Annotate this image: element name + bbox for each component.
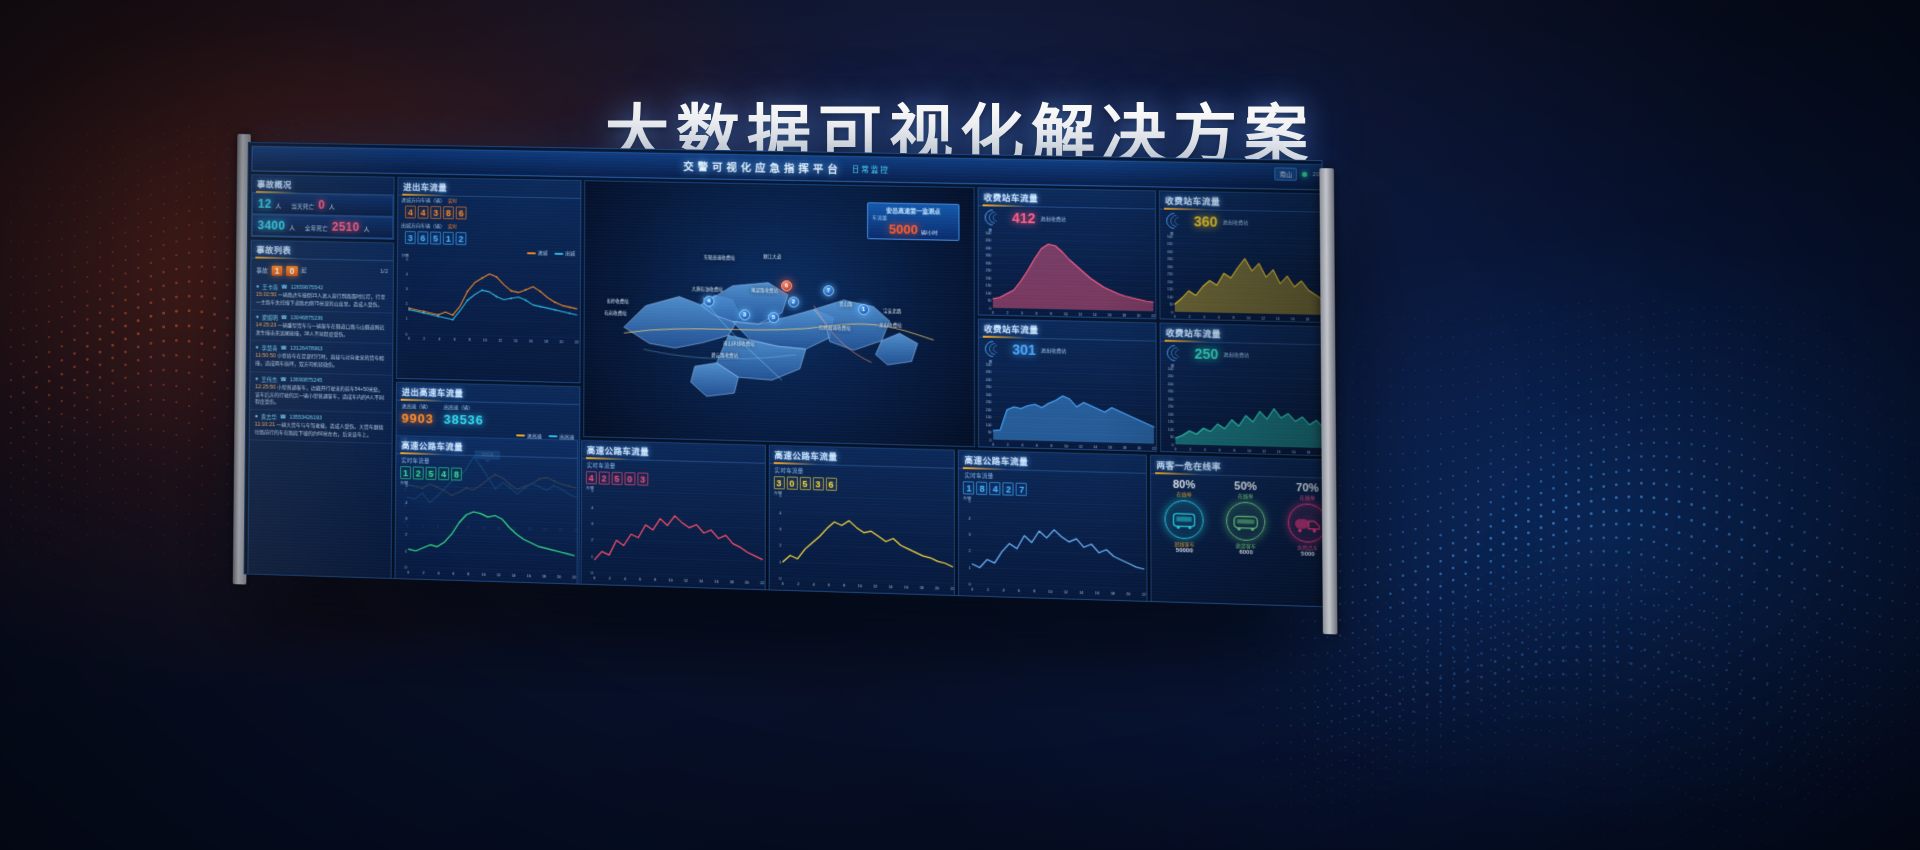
kpi-box: 12人当天死亡0人 (252, 193, 394, 217)
svg-text:2: 2 (987, 588, 989, 592)
panel-accident-overview: 事故概况 12人当天死亡0人3400人全年死亡2510人 (251, 174, 395, 239)
svg-text:4: 4 (1021, 311, 1023, 315)
panel-toll-flow: 收费站车流量412进出收费站50045040035030025020015010… (978, 187, 1157, 319)
svg-text:14: 14 (514, 339, 518, 343)
digit-cell: 6 (417, 231, 428, 244)
svg-text:12: 12 (873, 585, 877, 589)
kpi-label: 全年死亡 (305, 223, 328, 232)
online-rate-item[interactable]: 80%在线率班线客车50000 (1165, 478, 1204, 554)
online-rate-name: 危险品车 (1288, 544, 1326, 552)
svg-text:2: 2 (969, 549, 971, 553)
map-tooltip-title: 安邑高速第一监测点 (872, 205, 954, 216)
svg-text:500: 500 (1168, 367, 1174, 371)
meter-group: 出城方向车辆（辆）实时36512 (398, 221, 580, 250)
inout-flow-chart: 5432100246810121416182022万/辆 (397, 254, 580, 345)
meter-label: 进城方向车辆（辆） (401, 197, 445, 205)
svg-text:300: 300 (986, 261, 992, 265)
digit-cell: 0 (624, 472, 635, 485)
svg-text:18: 18 (1306, 318, 1310, 322)
online-rate-count: 6000 (1226, 549, 1265, 556)
kpi-label: 当天死亡 (291, 201, 314, 210)
incident-name: 王卡南 (262, 283, 278, 291)
particle-wave-bottom (1250, 520, 1890, 850)
svg-text:14: 14 (888, 585, 892, 589)
panel-accident-list: 事故列表 事故 1 0 起 1/2 ●王卡南☎1265967554215:02:… (247, 240, 394, 584)
svg-text:20: 20 (745, 581, 749, 585)
svg-text:150: 150 (986, 415, 992, 419)
svg-text:50: 50 (1170, 435, 1174, 439)
svg-text:0: 0 (992, 443, 994, 447)
svg-text:0: 0 (1175, 447, 1177, 451)
highway-flow-chart: 5432100246810121416182022万/辆 (395, 481, 576, 580)
signal-arcs-icon (985, 209, 1007, 225)
online-rate-item[interactable]: 70%在线率危险品车5000 (1288, 482, 1326, 559)
online-rate-count: 50000 (1165, 548, 1204, 555)
svg-text:14: 14 (1080, 591, 1084, 595)
map-label: 东陵高速收费站 (704, 255, 735, 262)
svg-text:350: 350 (986, 254, 992, 258)
map-pin[interactable]: 3 (739, 309, 750, 320)
map-pin[interactable]: 2 (788, 296, 799, 307)
panel-toll-flow: 收费站车流量360进出收费站50045040035030025020015010… (1159, 190, 1326, 323)
incident-text: 12:25:50 小型普通客车，边避开行驶来的前车54+50米处，该车后方的行驶… (255, 384, 387, 409)
phone-icon: ☎ (281, 315, 288, 321)
svg-text:万/辆: 万/辆 (586, 486, 594, 490)
svg-text:14: 14 (1093, 313, 1097, 317)
svg-text:5: 5 (779, 494, 781, 498)
map-label: 顺江大道 (763, 254, 781, 260)
digit-cell: 8 (443, 206, 454, 219)
count-digit: 1 (272, 266, 283, 276)
svg-text:2: 2 (423, 337, 425, 341)
svg-text:400: 400 (986, 378, 992, 382)
incident-phone: 13553426193 (289, 415, 322, 422)
accident-count-digits: 1 0 (272, 261, 298, 279)
panel-highway-flow: 高速公路车流量实时车流量1254854321002468101214161820… (394, 435, 578, 589)
svg-text:4: 4 (438, 337, 440, 341)
accident-list-items[interactable]: ●王卡南☎1265967554215:02:50 一辆路虎车撞倒15人进入直行到… (248, 280, 393, 583)
svg-text:8: 8 (1233, 316, 1235, 320)
svg-text:22: 22 (760, 581, 764, 585)
incident-text: 14:25:23 一辆重型货车与一辆客车在隧道口路与山隧道附近发生撞击无追尾碰撞… (256, 323, 388, 341)
svg-text:6: 6 (639, 578, 641, 582)
toll-label: 进出收费站 (1223, 218, 1249, 226)
map-tooltip: 安邑高速第一监测点 车流量 5000 辆/小时 (867, 202, 959, 241)
person-icon: ● (255, 376, 258, 382)
svg-text:18: 18 (542, 575, 546, 579)
svg-text:12: 12 (498, 339, 502, 343)
incident-time: 11:50:50 (255, 353, 275, 359)
panel-map[interactable]: 东陵高速收费站顺江大道大唐石油收费站笔架路收费站长岭收费站石岩收费站青山路宝安北… (583, 180, 975, 447)
legend-item: 出城 (554, 250, 575, 257)
svg-text:2: 2 (797, 582, 799, 586)
svg-text:100: 100 (986, 291, 992, 295)
digit-cell: 3 (430, 206, 441, 219)
svg-text:350: 350 (1168, 389, 1174, 393)
svg-text:450: 450 (986, 239, 992, 243)
svg-text:150: 150 (986, 284, 992, 288)
svg-text:100: 100 (1167, 295, 1173, 299)
digit-cell: 6 (456, 206, 467, 219)
svg-text:4: 4 (1003, 588, 1005, 592)
svg-text:300: 300 (986, 393, 992, 397)
list-item[interactable]: ●黄志华☎1355342619311:10:21 一辆大货车与车驾驶撞，造成人受… (250, 410, 392, 444)
toll-flow-chart: 5004504003503002502001501005000246810121… (1161, 364, 1326, 456)
online-rate-name: 旅游客车 (1226, 542, 1265, 550)
inout-meters: 进城方向车辆（辆）实时44386出城方向车辆（辆）实时36512 (398, 196, 580, 251)
accident-count-unit: 起 (301, 266, 306, 274)
svg-text:万/辆: 万/辆 (774, 491, 782, 495)
incident-time: 12:25:50 (255, 384, 276, 390)
svg-text:350: 350 (986, 385, 992, 389)
svg-text:18: 18 (544, 340, 548, 344)
meter-digits: 36512 (401, 229, 577, 249)
svg-text:8: 8 (843, 584, 845, 588)
svg-text:400: 400 (1168, 382, 1174, 386)
svg-text:4: 4 (624, 577, 626, 581)
highway-inout-values: 进高速（辆） 9903 出高速（辆） 38536 (397, 400, 580, 433)
digit-cell: 2 (456, 232, 467, 245)
kpi-box: 3400人全年死亡2510人 (252, 214, 394, 238)
panel-online-rate: 两客一危在线率80%在线率班线客车5000050%在线率旅游客车600070%在… (1150, 455, 1326, 608)
incident-phone: 12659675542 (291, 285, 324, 292)
meter-group: 进城方向车辆（辆）实时44386 (398, 196, 580, 225)
svg-text:500: 500 (986, 362, 992, 366)
svg-text:0: 0 (1171, 310, 1173, 314)
panel-title-accident-list: 事故列表 (252, 241, 394, 262)
svg-text:10: 10 (857, 584, 861, 588)
map-label: 笔架路收费站 (751, 288, 778, 295)
digit-cell: 5 (430, 232, 441, 245)
panel-toll-flow: 收费站车流量250进出收费站50045040035030025020015010… (1160, 322, 1326, 456)
svg-text:18: 18 (919, 586, 923, 590)
svg-text:20: 20 (935, 586, 939, 590)
digit-cell: 4 (405, 205, 416, 218)
svg-text:2: 2 (422, 571, 424, 575)
svg-text:6: 6 (1036, 444, 1038, 448)
svg-text:16: 16 (714, 580, 718, 584)
svg-text:2: 2 (405, 533, 407, 537)
toll-summary: 301进出收费站 (979, 338, 1156, 364)
dashboard-screen: 交警可视化应急指挥平台 日常监控 南山 2018-0 事故概况 12人当天死亡0… (244, 142, 1326, 608)
kpi-unit: 人 (289, 223, 295, 232)
svg-text:20: 20 (1127, 592, 1131, 596)
svg-text:22: 22 (1151, 314, 1155, 318)
incident-name: 王伟杰 (261, 375, 277, 383)
svg-text:12: 12 (1261, 317, 1265, 321)
online-rate-caption: 在线率 (1288, 494, 1326, 502)
svg-text:2: 2 (591, 538, 593, 542)
svg-text:3: 3 (405, 517, 407, 521)
bus-icon (1168, 505, 1201, 534)
svg-text:12: 12 (1262, 450, 1266, 454)
svg-text:10: 10 (483, 338, 487, 342)
kpi-unit: 人 (329, 202, 335, 211)
svg-text:4: 4 (591, 506, 593, 510)
svg-text:3: 3 (969, 533, 971, 537)
svg-text:0: 0 (1174, 315, 1176, 319)
toll-value: 301 (1012, 341, 1036, 358)
digit-cell: 6 (826, 477, 837, 490)
svg-text:4: 4 (437, 571, 439, 575)
panel-title-accident-overview: 事故概况 (252, 175, 393, 195)
toll-value: 412 (1012, 210, 1036, 226)
toll-label: 进出收费站 (1041, 215, 1066, 222)
svg-text:50: 50 (1169, 303, 1173, 307)
digit-cell: 1 (443, 232, 454, 245)
svg-text:4: 4 (1204, 448, 1206, 452)
incident-text: 11:50:50 小型轿车在足部打行时，直接与对向驶来的货车相撞，造成两车损坏，… (255, 353, 387, 371)
svg-text:万/辆: 万/辆 (402, 254, 410, 259)
svg-text:450: 450 (1167, 242, 1173, 246)
svg-text:2: 2 (779, 544, 781, 548)
toll-flow-chart: 5004504003503002502001501005000246810121… (979, 228, 1156, 318)
svg-text:20: 20 (1137, 446, 1141, 450)
digit-cell: 7 (1016, 483, 1027, 496)
svg-text:1: 1 (405, 549, 407, 553)
svg-text:22: 22 (950, 587, 954, 591)
svg-text:6: 6 (1218, 316, 1220, 320)
svg-text:20: 20 (1321, 451, 1325, 455)
svg-text:辆: 辆 (1170, 232, 1174, 236)
svg-text:500: 500 (1167, 234, 1173, 238)
online-rate-ring (1226, 501, 1265, 541)
online-rate-percent: 50% (1226, 480, 1265, 493)
toll-flow-chart: 5004504003503002502001501005000246810121… (1160, 232, 1326, 323)
svg-text:16: 16 (527, 574, 531, 578)
left-column: 事故概况 12人当天死亡0人3400人全年死亡2510人 事故列表 事故 1 0… (247, 174, 394, 584)
svg-text:10: 10 (1048, 590, 1052, 594)
svg-text:10: 10 (668, 578, 672, 582)
svg-text:300: 300 (1167, 265, 1173, 269)
svg-text:2: 2 (1007, 311, 1009, 315)
svg-text:8: 8 (1234, 449, 1236, 453)
digit-cell: 5 (426, 467, 437, 480)
panel-title-online-rate: 两客一危在线率 (1151, 456, 1326, 479)
svg-text:0: 0 (992, 311, 994, 315)
svg-text:辆: 辆 (989, 360, 993, 364)
svg-text:1: 1 (969, 566, 971, 570)
toll-column-2: 收费站车流量360进出收费站50045040035030025020015010… (1159, 190, 1326, 456)
svg-text:100: 100 (986, 423, 992, 427)
online-rate-ring (1288, 503, 1326, 543)
svg-text:20: 20 (1137, 314, 1141, 318)
map-pin[interactable]: 4 (703, 296, 714, 307)
svg-text:16: 16 (1108, 446, 1112, 450)
digit-cell: 0 (786, 476, 797, 489)
incident-time: 11:10:21 (255, 422, 275, 428)
list-item[interactable]: ●李慧青☎1312647896311:50:50 小型轿车在足部打行时，直接与对… (250, 341, 392, 375)
kpi-value: 0 (318, 198, 325, 212)
online-rate-ring (1165, 500, 1204, 540)
list-item[interactable]: ●王伟杰☎1369087524512:25:50 小型普通客车，边避开行驶来的前… (250, 372, 392, 413)
bottom-row: 高速公路车流量实时车流量1254854321002468101214161820… (394, 435, 1325, 607)
kpi-value: 3400 (258, 218, 286, 232)
svg-text:12: 12 (684, 579, 688, 583)
digit-cell: 1 (400, 466, 411, 479)
svg-text:18: 18 (729, 580, 733, 584)
coach-icon (1229, 507, 1262, 536)
map-pin[interactable]: 1 (858, 304, 869, 315)
digit-cell: 1 (963, 481, 974, 494)
svg-text:12: 12 (497, 573, 501, 577)
svg-text:200: 200 (986, 276, 992, 280)
svg-text:6: 6 (1036, 312, 1038, 316)
svg-text:100: 100 (1168, 427, 1174, 431)
toll-column-1: 收费站车流量412进出收费站50045040035030025020015010… (978, 187, 1158, 452)
panel-inout-flow: 进出车流量 进城方向车辆（辆）实时44386出城方向车辆（辆）实时36512 进… (396, 177, 581, 383)
highway-out-value: 38536 (443, 411, 483, 427)
map-label: 宝安北路 (883, 308, 901, 314)
svg-text:14: 14 (512, 574, 516, 578)
incident-phone: 13690875245 (290, 377, 323, 384)
svg-text:辆: 辆 (1171, 364, 1175, 368)
highway-flow-digits: 30536 (769, 474, 954, 496)
svg-text:18: 18 (1306, 451, 1310, 455)
svg-text:2: 2 (406, 302, 408, 306)
online-rate-item[interactable]: 50%在线率旅游客车6000 (1226, 480, 1266, 556)
region-map[interactable] (584, 181, 974, 446)
svg-text:6: 6 (1018, 589, 1020, 593)
svg-text:10: 10 (1247, 449, 1251, 453)
online-rate-items: 80%在线率班线客车5000050%在线率旅游客车600070%在线率危险品车5… (1151, 474, 1326, 559)
incident-name: 黄志华 (261, 413, 277, 421)
incident-name: 李慧青 (262, 345, 278, 353)
online-rate-caption: 在线率 (1165, 491, 1204, 499)
highway-in-label: 进高速（辆） (402, 402, 434, 410)
highway-flow-subtitle: 实时车流量 (959, 469, 1146, 484)
svg-text:4: 4 (1203, 315, 1205, 319)
online-rate-caption: 在线率 (1226, 492, 1265, 500)
online-rate-name: 班线客车 (1165, 540, 1204, 548)
person-icon: ● (256, 284, 259, 290)
svg-text:14: 14 (699, 579, 703, 583)
svg-text:4: 4 (1021, 443, 1023, 447)
highway-flow-digits: 18427 (959, 479, 1146, 501)
svg-text:6: 6 (1219, 448, 1221, 452)
legend-item: 进城 (527, 249, 548, 256)
kpi-unit: 人 (364, 224, 370, 233)
digit-cell: 4 (586, 471, 597, 484)
meter-digits: 44386 (401, 203, 577, 223)
header-date: 2018-0 (1313, 172, 1326, 178)
svg-text:0: 0 (593, 576, 595, 580)
svg-text:6: 6 (452, 572, 454, 576)
highway-out-label: 出高速（辆） (444, 403, 484, 411)
svg-text:4: 4 (812, 583, 814, 587)
svg-text:万/辆: 万/辆 (963, 496, 972, 500)
svg-text:8: 8 (469, 338, 471, 342)
svg-text:16: 16 (1291, 317, 1295, 321)
panel-toll-flow: 收费站车流量301进出收费站50045040035030025020015010… (978, 318, 1157, 451)
toll-value: 360 (1194, 213, 1218, 230)
region-chip[interactable]: 南山 (1275, 167, 1298, 181)
kpi-unit: 人 (276, 201, 282, 210)
svg-text:300: 300 (1168, 397, 1174, 401)
svg-text:0: 0 (969, 583, 971, 587)
svg-text:1: 1 (591, 555, 593, 559)
highway-flow-chart: 5432100246810121416182022万/辆 (959, 496, 1146, 597)
digit-cell: 8 (976, 482, 987, 495)
person-icon: ● (255, 345, 258, 351)
toll-summary: 360进出收费站 (1160, 210, 1326, 236)
highway-flow-chart: 5432100246810121416182022万/辆 (581, 486, 764, 586)
svg-text:250: 250 (986, 400, 992, 404)
svg-text:4: 4 (405, 500, 407, 504)
panel-title-toll-flow: 收费站车流量 (979, 320, 1156, 342)
person-icon: ● (255, 414, 258, 420)
digit-cell: 8 (451, 467, 462, 480)
list-item[interactable]: ●王卡南☎1265967554215:02:50 一辆路虎车撞倒15人进入直行到… (251, 280, 393, 314)
svg-text:200: 200 (1168, 412, 1174, 416)
map-label: 大唐石油收费站 (692, 286, 723, 293)
incident-phone: 13126478963 (290, 346, 323, 353)
kpi-value: 2510 (332, 220, 360, 234)
panel-title-highway-flow: 高速公路车流量 (959, 451, 1146, 474)
accident-list-pager[interactable]: 1/2 (380, 269, 388, 275)
panel-title-inout-flow: 进出车流量 (398, 178, 580, 199)
svg-text:20: 20 (557, 575, 561, 579)
count-digit: 0 (287, 266, 298, 276)
incident-text: 11:10:21 一辆大货车与车驾驶撞，造成人受伤。大货车继续往路前行的车在路段… (255, 422, 387, 440)
svg-text:200: 200 (1167, 280, 1173, 284)
svg-text:200: 200 (986, 408, 992, 412)
dashboard-mode-tag[interactable]: 日常监控 (852, 164, 890, 176)
svg-text:14: 14 (1277, 450, 1281, 454)
digit-cell: 2 (599, 471, 610, 484)
svg-text:5: 5 (969, 500, 971, 504)
svg-text:250: 250 (1168, 405, 1174, 409)
svg-text:14: 14 (1093, 445, 1097, 449)
incident-phone: 13046875236 (290, 315, 323, 322)
dashboard-title: 交警可视化应急指挥平台 (683, 159, 842, 177)
svg-text:150: 150 (1167, 287, 1173, 291)
svg-text:0: 0 (408, 337, 410, 341)
toll-label: 进出收费站 (1041, 347, 1066, 355)
phone-icon: ☎ (280, 377, 287, 383)
incident-name: 梁振明 (262, 314, 278, 322)
svg-text:2: 2 (1189, 448, 1191, 452)
online-rate-count: 5000 (1288, 551, 1326, 558)
svg-text:8: 8 (467, 572, 469, 576)
toll-flow-chart: 5004504003503002502001501005000246810121… (979, 360, 1156, 451)
incident-time: 15:02:50 (256, 292, 277, 298)
accident-kpi-list: 12人当天死亡0人3400人全年死亡2510人 (252, 193, 394, 239)
map-pin[interactable]: 7 (823, 285, 834, 296)
svg-text:18: 18 (1122, 314, 1126, 318)
svg-text:0: 0 (405, 566, 407, 570)
map-pin[interactable]: 5 (768, 312, 779, 323)
online-rate-percent: 70% (1288, 482, 1326, 495)
svg-text:6: 6 (828, 583, 830, 587)
phone-icon: ☎ (280, 346, 287, 352)
map-tooltip-label: 车流量 (872, 214, 954, 223)
svg-text:1: 1 (779, 560, 781, 564)
svg-text:16: 16 (1095, 591, 1099, 595)
svg-text:0: 0 (781, 582, 783, 586)
list-item[interactable]: ●梁振明☎1304687523614:25:23 一辆重型货车与一辆客车在隧道口… (251, 311, 393, 345)
svg-text:18: 18 (1123, 446, 1127, 450)
map-label: 长岭收费站 (606, 298, 628, 304)
digit-cell: 2 (413, 466, 424, 479)
map-label: 红岭高速收费站 (819, 325, 851, 332)
svg-text:50: 50 (988, 299, 992, 303)
map-tooltip-unit: 辆/小时 (921, 229, 937, 236)
map-pin[interactable]: 6 (781, 280, 792, 291)
svg-text:10: 10 (1064, 444, 1068, 448)
svg-text:0: 0 (1172, 443, 1174, 447)
svg-text:22: 22 (1152, 447, 1156, 451)
